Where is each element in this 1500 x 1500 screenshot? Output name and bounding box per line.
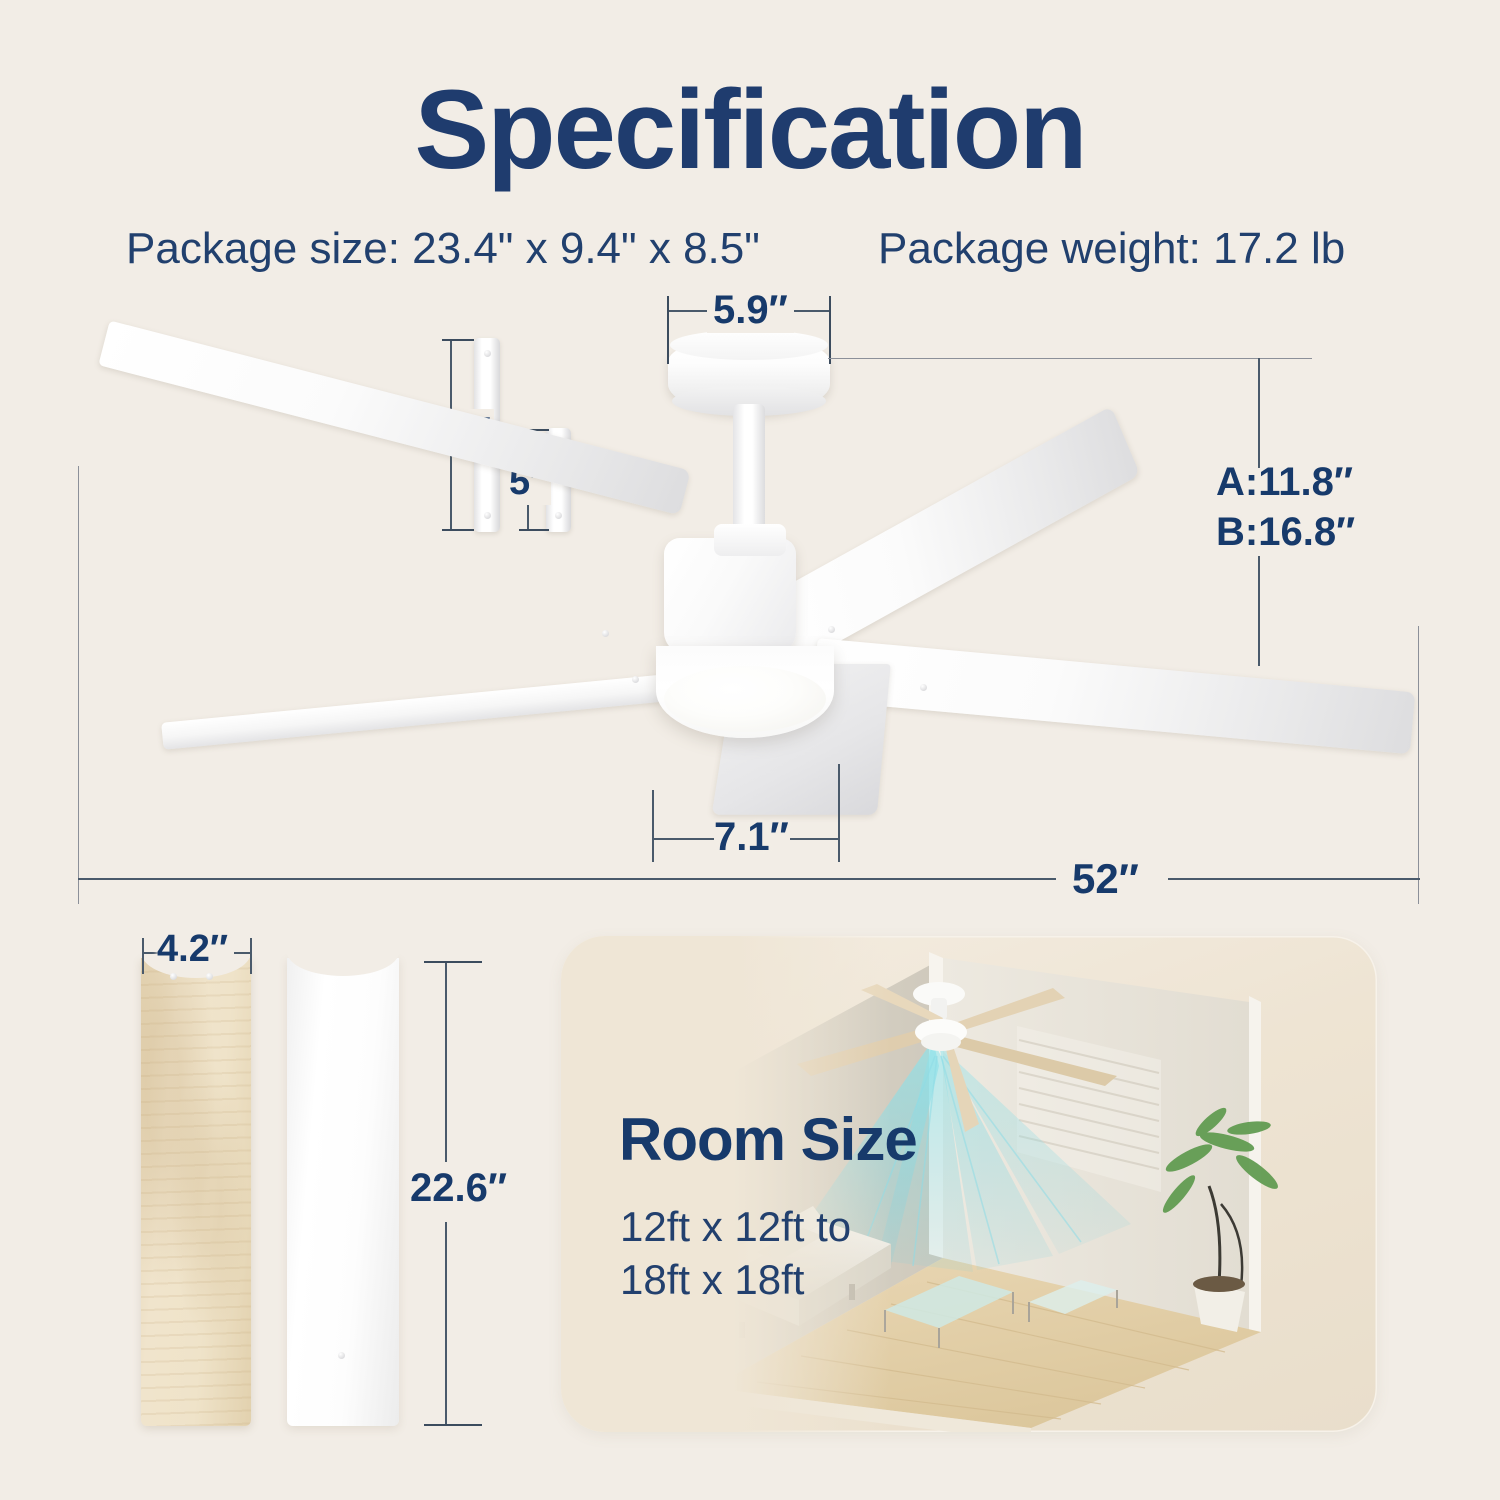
mounting-rod [733, 404, 765, 538]
fan-blade-upper-left [98, 321, 690, 516]
blade-span-line-left [78, 878, 1056, 880]
fan-blade-upper-right [745, 406, 1140, 677]
canopy-width-tick-left [667, 296, 669, 364]
room-size-line-2: 18ft x 18ft [620, 1256, 804, 1304]
motor-width-dim-line-left [652, 838, 714, 840]
downrod-long-screw-top [484, 350, 491, 357]
blade-rivet-3 [828, 626, 835, 633]
drop-b-label: B:16.8″ [1216, 510, 1355, 555]
motor-width-label: 7.1″ [714, 815, 789, 860]
blade-width-tick-left [142, 938, 144, 974]
room-size-line-1: 12ft x 12ft to [620, 1203, 851, 1251]
blade-span-label: 52″ [1072, 855, 1139, 903]
blade-width-label: 4.2″ [157, 928, 228, 971]
blade-length-dim-line-lower [445, 1222, 447, 1426]
canopy-width-label: 5.9″ [707, 288, 794, 333]
fan-blade-right [812, 638, 1415, 754]
blade-length-tick-top [424, 961, 482, 963]
room-size-title: Room Size [619, 1105, 917, 1174]
room-illustration-fade [561, 936, 891, 1432]
page-title: Specification [0, 74, 1500, 186]
blade-width-dim-line-right [234, 952, 252, 954]
downrod-long-tick-bottom [442, 529, 474, 531]
canopy-width-tick-right [829, 296, 831, 364]
package-weight-text: Package weight: 17.2 lb [878, 224, 1345, 274]
blade-width-tick-right [250, 938, 252, 974]
room-size-panel [561, 936, 1377, 1432]
blade-span-line-right [1168, 878, 1420, 880]
blade-length-label: 22.6″ [410, 1166, 507, 1211]
fan-motor-collar [714, 524, 786, 556]
motor-width-tick-left [652, 790, 654, 862]
drop-dim-vline-upper [1258, 358, 1260, 468]
blade-sample-wood-hole-2 [206, 973, 213, 980]
canopy-top-ellipse [670, 330, 828, 360]
blade-sample-wood-hole-1 [170, 973, 177, 980]
blade-rivet-2 [632, 676, 639, 683]
fan-blade-lower-left [161, 672, 691, 750]
downrod-long-tick-top [442, 339, 474, 341]
downrod-short-tick-bottom [519, 529, 549, 531]
blade-rivet-1 [602, 630, 609, 637]
blade-span-ext-left [78, 466, 79, 904]
blade-sample-wood [141, 958, 251, 1426]
drop-dim-vline-lower [1258, 556, 1260, 666]
drop-dim-top-line [828, 358, 1312, 359]
blade-rivet-4 [920, 684, 927, 691]
motor-width-tick-right [838, 764, 840, 862]
downrod-long-screw-bottom [484, 512, 491, 519]
drop-a-label: A:11.8″ [1216, 460, 1353, 505]
package-size-text: Package size: 23.4" x 9.4" x 8.5" [126, 224, 760, 274]
blade-sample-white-hole-1 [338, 1352, 345, 1359]
downrod-short-screw-bottom [555, 512, 562, 519]
fan-light-lens [664, 666, 826, 732]
specification-sheet: Specification Package size: 23.4" x 9.4"… [0, 0, 1500, 1500]
motor-width-dim-line-right [790, 838, 838, 840]
blade-span-ext-right [1418, 626, 1419, 904]
blade-length-tick-bottom [424, 1424, 482, 1426]
blade-length-dim-line-upper [445, 962, 447, 1162]
